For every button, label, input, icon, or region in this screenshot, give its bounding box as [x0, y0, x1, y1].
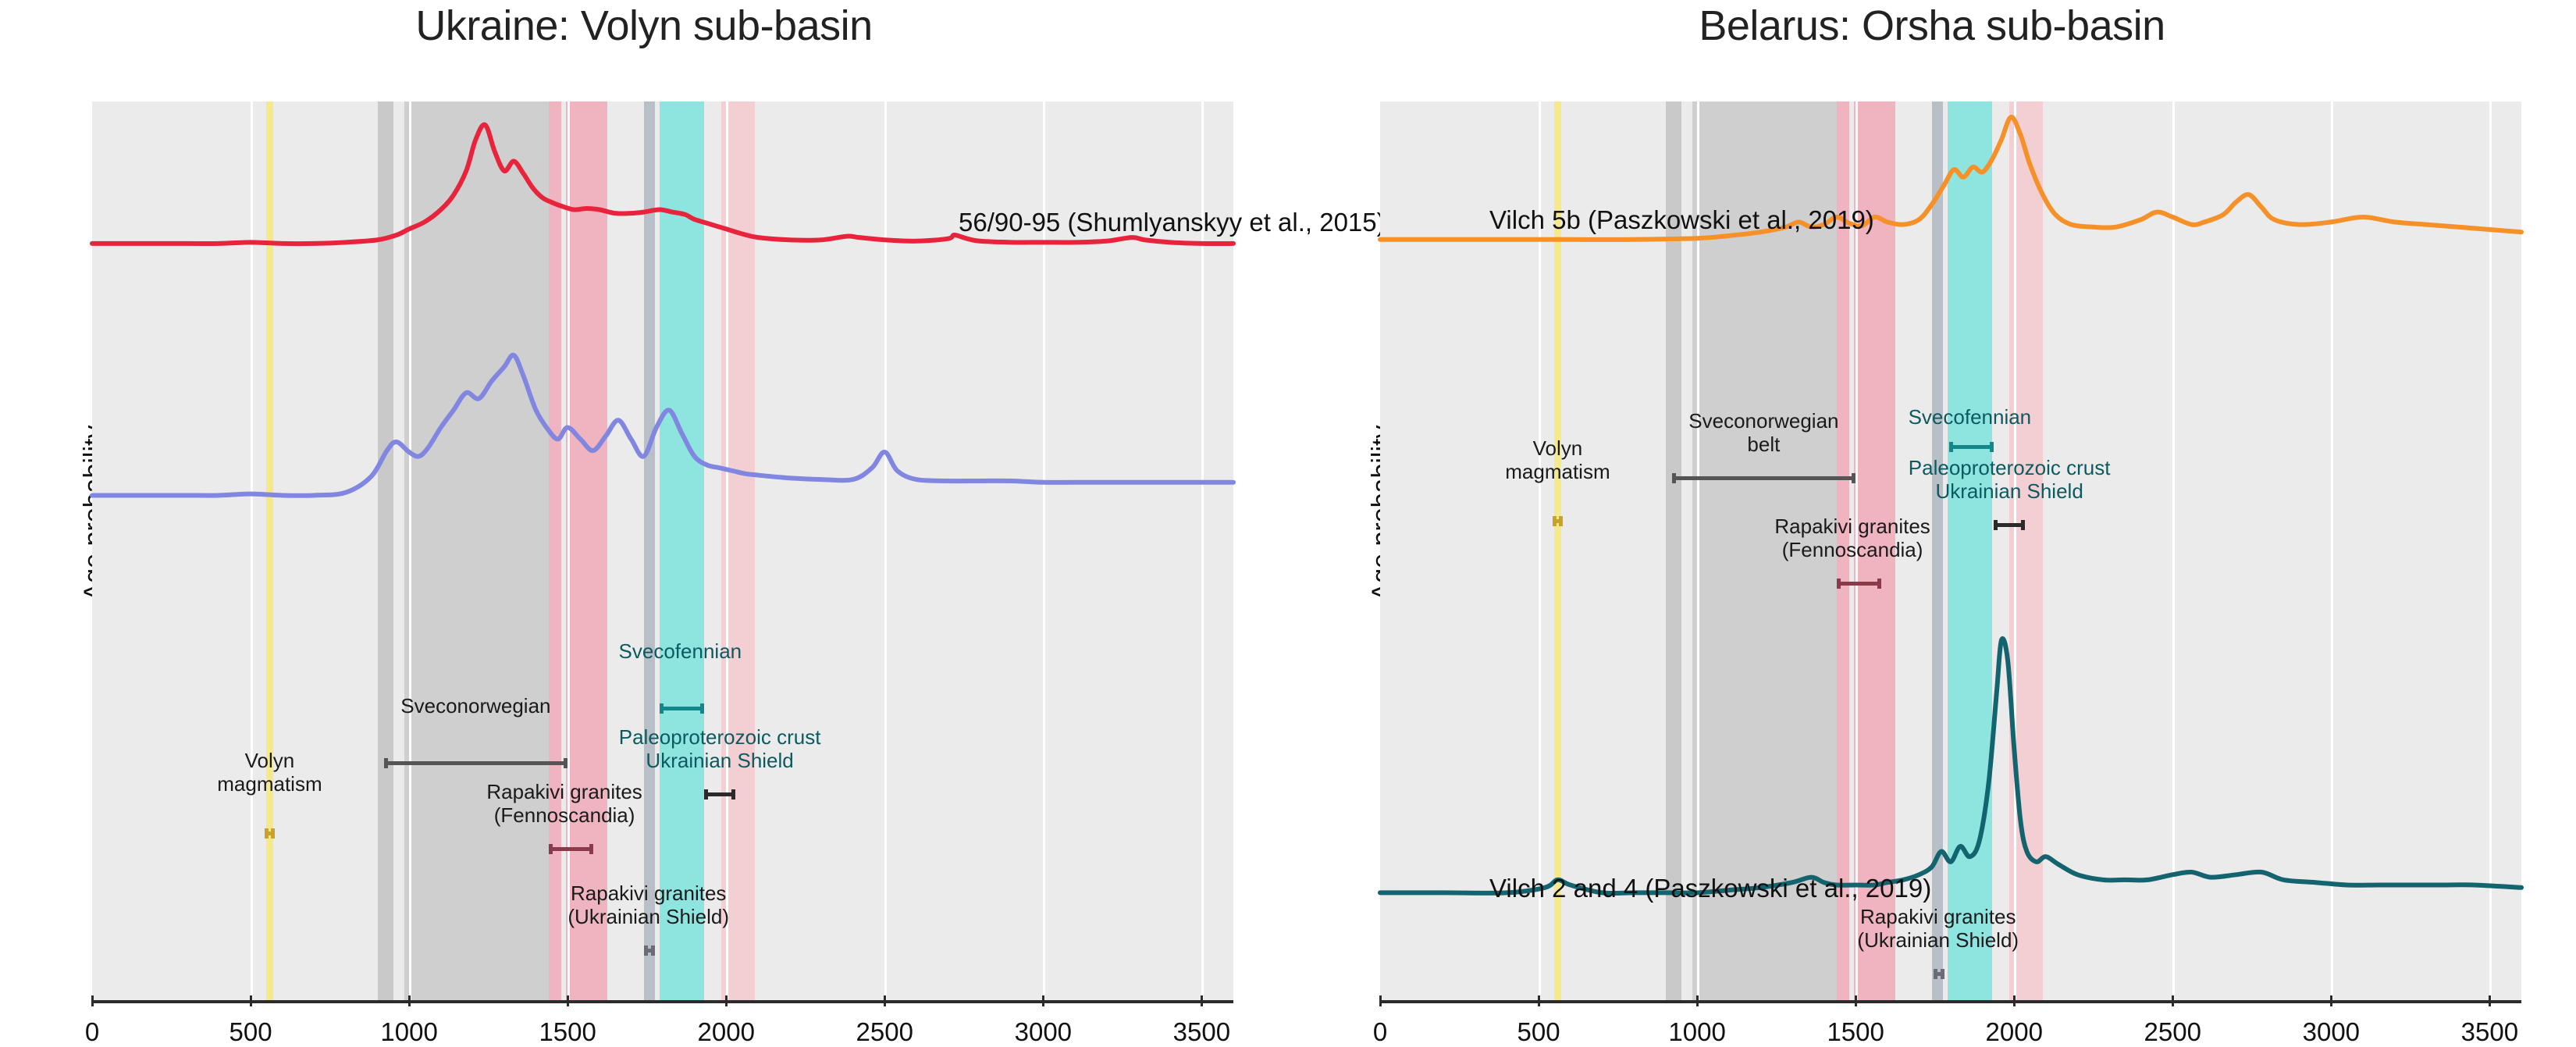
panel-title-left: Ukraine: Volyn sub-basin: [0, 2, 1288, 50]
curve-volyn-unlabelled: [92, 355, 1233, 496]
annotation-cap-end: [1877, 579, 1881, 589]
annotation-cap-start: [1837, 579, 1841, 589]
tick-label-500: 500: [1517, 1017, 1560, 1047]
annotation-label-sveconorwegian: Sveconorwegian: [400, 695, 550, 718]
tick-label-1500: 1500: [1827, 1017, 1884, 1047]
annotation-line: Volyn: [217, 750, 322, 773]
annotation-label-svecofennian: Svecofennian: [619, 640, 742, 664]
annotation-cap-start: [1994, 520, 1998, 530]
plot-area-right: VolynmagmatismSveconorwegianbeltRapakivi…: [1380, 101, 2521, 1003]
panel-ukraine-volyn: Ukraine: Volyn sub-basin Age probability…: [0, 0, 1288, 1026]
annotation-cap-start: [1934, 969, 1937, 979]
annotation-cap-end: [1852, 473, 1856, 483]
tick-1000: [408, 995, 411, 1006]
annotation-label-paleoproterozoic-crust: Paleoproterozoic crustUkrainian Shield: [619, 726, 821, 772]
x-axis-line-right: [1380, 1000, 2521, 1003]
annotation-cap-end: [2021, 520, 2025, 530]
annotation-line: belt: [1688, 433, 1838, 457]
tick-500: [250, 995, 252, 1006]
annotation-range-bar-paleoproterozoic-crust: [1994, 523, 2026, 527]
annotation-line: Rapakivi granites: [486, 781, 642, 804]
curve-label-vilch-5b: Vilch 5b (Paszkowski et al., 2019): [1489, 205, 1874, 235]
annotation-line: Volyn: [1505, 437, 1610, 461]
tick-label-500: 500: [229, 1017, 272, 1047]
tick-label-0: 0: [1373, 1017, 1387, 1047]
annotation-cap-end: [589, 844, 593, 854]
annotation-label-volyn-magmatism: Volynmagmatism: [1505, 437, 1610, 483]
tick-1500: [567, 995, 569, 1006]
curves-right: [1380, 101, 2521, 1003]
annotation-cap-start: [660, 703, 664, 714]
annotation-cap-start: [384, 758, 388, 768]
annotation-cap-end: [1559, 516, 1563, 526]
annotation-label-volyn-magmatism: Volynmagmatism: [217, 750, 322, 796]
annotation-range-bar-sveconorwegian: [384, 761, 568, 765]
tick-2000: [2013, 995, 2016, 1006]
annotation-label-rapakivi-fennoscandia: Rapakivi granites(Fennoscandia): [486, 781, 642, 827]
annotation-cap-end: [651, 946, 655, 956]
annotation-cap-end: [564, 758, 568, 768]
tick-1500: [1855, 995, 1857, 1006]
tick-label-2500: 2500: [2144, 1017, 2201, 1047]
tick-3500: [2489, 995, 2491, 1006]
annotation-range-bar-sveconorwegian-belt: [1672, 476, 1856, 480]
annotation-cap-start: [1553, 516, 1557, 526]
annotation-range-bar-svecofennian: [660, 707, 704, 710]
annotation-cap-end: [1990, 442, 1994, 452]
tick-label-2500: 2500: [856, 1017, 913, 1047]
annotation-cap-start: [1949, 442, 1953, 452]
annotation-line: magmatism: [1505, 461, 1610, 484]
tick-label-3000: 3000: [2303, 1017, 2360, 1047]
annotation-range-bar-paleoproterozoic-crust: [704, 792, 736, 796]
tick-3000: [2330, 995, 2332, 1006]
annotation-line: Paleoproterozoic crust: [1909, 457, 2111, 480]
plot-area-left: VolynmagmatismSveconorwegianRapakivi gra…: [92, 101, 1233, 1003]
annotation-line: Rapakivi granites: [568, 882, 729, 906]
figure-root: Ukraine: Volyn sub-basin Age probability…: [0, 0, 2576, 1026]
annotation-line: Svecofennian: [619, 640, 742, 664]
tick-2500: [884, 995, 886, 1006]
tick-1000: [1696, 995, 1699, 1006]
tick-2000: [725, 995, 728, 1006]
annotation-line: Sveconorwegian: [400, 695, 550, 718]
annotation-range-bar-volyn-magmatism: [265, 832, 274, 835]
curve-vilch-2-and-4: [1380, 639, 2521, 893]
annotation-cap-start: [1672, 473, 1676, 483]
tick-0: [91, 995, 94, 1006]
tick-3500: [1201, 995, 1203, 1006]
annotation-line: Paleoproterozoic crust: [619, 726, 821, 750]
annotation-cap-start: [644, 946, 648, 956]
annotation-line: Rapakivi granites: [1857, 906, 2019, 929]
annotation-line: (Fennoscandia): [486, 804, 642, 828]
tick-3000: [1042, 995, 1044, 1006]
annotation-range-bar-rapakivi-ukrainian-shield: [644, 949, 655, 953]
annotation-line: Rapakivi granites: [1774, 515, 1930, 539]
annotation-label-sveconorwegian-belt: Sveconorwegianbelt: [1688, 410, 1838, 456]
annotation-range-bar-volyn-magmatism: [1553, 519, 1562, 523]
x-axis-line-left: [92, 1000, 1233, 1003]
tick-label-1000: 1000: [380, 1017, 437, 1047]
annotation-line: (Ukrainian Shield): [568, 906, 729, 929]
annotation-cap-end: [271, 828, 275, 839]
annotation-line: Ukrainian Shield: [619, 750, 821, 773]
tick-label-3500: 3500: [1173, 1017, 1230, 1047]
annotation-cap-start: [265, 828, 269, 839]
annotation-label-rapakivi-fennoscandia: Rapakivi granites(Fennoscandia): [1774, 515, 1930, 561]
tick-500: [1538, 995, 1540, 1006]
annotation-label-rapakivi-ukrainian-shield: Rapakivi granites(Ukrainian Shield): [568, 882, 729, 928]
annotation-line: (Fennoscandia): [1774, 539, 1930, 562]
panel-title-right: Belarus: Orsha sub-basin: [1288, 2, 2576, 50]
annotation-line: Ukrainian Shield: [1909, 480, 2111, 504]
annotation-line: magmatism: [217, 773, 322, 796]
tick-label-2000: 2000: [1986, 1017, 2043, 1047]
tick-label-1000: 1000: [1668, 1017, 1725, 1047]
annotation-label-rapakivi-ukrainian-shield: Rapakivi granites(Ukrainian Shield): [1857, 906, 2019, 952]
annotation-line: Svecofennian: [1909, 406, 2032, 429]
annotation-cap-end: [731, 789, 735, 799]
tick-0: [1379, 995, 1382, 1006]
tick-label-3500: 3500: [2461, 1017, 2518, 1047]
annotation-cap-end: [1941, 969, 1944, 979]
annotation-range-bar-svecofennian: [1949, 445, 1994, 449]
annotation-range-bar-rapakivi-ukrainian-shield: [1934, 972, 1944, 976]
annotation-range-bar-rapakivi-fennoscandia: [1837, 582, 1881, 586]
annotation-label-svecofennian: Svecofennian: [1909, 406, 2032, 429]
panel-belarus-orsha: Belarus: Orsha sub-basin Age probability…: [1288, 0, 2576, 1026]
annotation-range-bar-rapakivi-fennoscandia: [549, 847, 593, 851]
annotation-line: Sveconorwegian: [1688, 410, 1838, 433]
annotation-cap-end: [700, 703, 704, 714]
annotation-cap-start: [549, 844, 553, 854]
tick-label-2000: 2000: [698, 1017, 755, 1047]
curve-label-vilch-2-and-4: Vilch 2 and 4 (Paszkowski et al., 2019): [1489, 874, 1931, 903]
tick-label-0: 0: [85, 1017, 99, 1047]
annotation-cap-start: [704, 789, 708, 799]
annotation-line: (Ukrainian Shield): [1857, 929, 2019, 953]
tick-label-1500: 1500: [539, 1017, 596, 1047]
tick-2500: [2172, 995, 2174, 1006]
tick-label-3000: 3000: [1015, 1017, 1072, 1047]
annotation-label-paleoproterozoic-crust: Paleoproterozoic crustUkrainian Shield: [1909, 457, 2111, 503]
